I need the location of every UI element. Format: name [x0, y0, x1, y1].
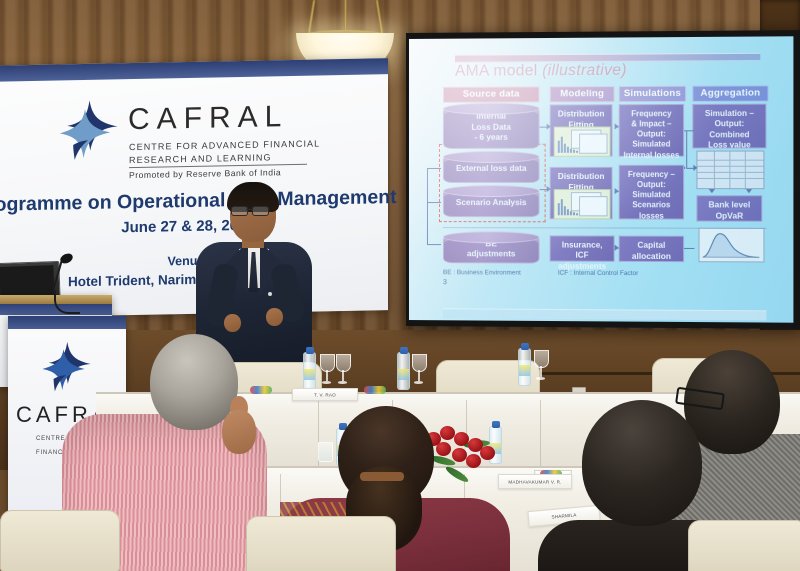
slide-page-number: 3: [443, 279, 447, 286]
column-header-source-data: Source data: [443, 86, 540, 102]
eyeglasses-left-icon: [231, 206, 248, 216]
standee-top-band: [8, 316, 126, 329]
mini-bars-1: [558, 137, 578, 153]
histogram-thumbnail-2: [554, 189, 611, 219]
candy-dish-contents-2: [364, 386, 386, 394]
name-tent-text: T. V. RAO: [293, 392, 357, 397]
banner-brand-name: CAFRAL: [128, 100, 288, 137]
slide-title-italic: (illustrative): [542, 62, 627, 80]
eyeglasses-right-icon: [252, 206, 269, 216]
wine-glass-6: [534, 350, 547, 380]
candy-dish-contents-1: [250, 386, 272, 394]
light-rod-center: [344, 0, 347, 34]
presenter-hand-right: [266, 308, 283, 326]
box-frequency-impact-internal: Frequency & Impact – Output: Simulated I…: [619, 104, 684, 157]
water-bottle-2: [303, 352, 316, 390]
cylinder-scenario-analysis: Scenario Analysis: [443, 189, 540, 217]
arrow-3: [547, 186, 551, 192]
connector-10: [427, 202, 441, 203]
arrow-6: [709, 189, 715, 193]
conference-room-photo: AMA model (illustrative) Source data Mod…: [0, 0, 800, 571]
box-frequency-scenarios: Frequency – Output: Simulated Scenarios …: [619, 165, 684, 220]
section-separator: [443, 227, 767, 229]
cylinder-internal-loss-data: Internal Loss Data - 6 years: [443, 107, 540, 149]
programme-dates: June 27 & 28, 2013: [0, 214, 388, 239]
name-tent-2: T. V. RAO: [292, 388, 358, 401]
box-simulation-combined-loss: Simulation – Output: Combined Loss value: [692, 104, 766, 149]
programme-title: Programme on Operational Risk Management: [0, 186, 374, 217]
attendee-left-hand: [222, 410, 256, 454]
slide-footer-bar: [443, 308, 767, 320]
projection-screen-frame: AMA model (illustrative) Source data Mod…: [406, 30, 800, 329]
connector-13: [684, 248, 694, 249]
connector-6: [684, 167, 685, 169]
column-header-aggregation: Aggregation: [692, 85, 768, 102]
banner-subtitle: CENTRE FOR ADVANCED FINANCIAL RESEARCH A…: [129, 137, 320, 167]
laptop-screen: [0, 265, 54, 298]
cylinder-external-loss-data: External loss data: [443, 155, 540, 183]
box-insurance-icf-adjustments: Insurance, ICF adjustments: [550, 235, 615, 261]
banner-promoted-by: Promoted by Reserve Bank of India: [129, 167, 281, 180]
mini-bars-2: [558, 199, 578, 215]
arrow-8: [615, 245, 619, 251]
slide-title: AMA model (illustrative): [455, 62, 627, 81]
box-bank-level-opvar: Bank level OpVaR: [696, 195, 762, 222]
water-bottle-4: [518, 348, 531, 386]
presenter-hand-left: [224, 314, 241, 332]
cafral-star-logo-icon: [50, 95, 126, 170]
column-header-simulations: Simulations: [619, 86, 686, 102]
chair-front-1: [246, 516, 396, 571]
loss-matrix-thumbnail: [696, 150, 764, 189]
slide-title-main: AMA model: [455, 62, 542, 80]
loss-distribution-curve-thumbnail: [699, 228, 765, 263]
chair-front-2: [0, 510, 120, 571]
chair-front-3: [688, 520, 800, 571]
attendee-r1-head: [582, 400, 702, 526]
table-pleat: [540, 400, 541, 466]
eyeglasses-bridge: [246, 209, 252, 210]
cylinder-be-adjustments: BE adjustments: [443, 235, 540, 263]
arrow-7: [746, 189, 752, 193]
connector-11: [427, 244, 441, 245]
connector-7: [686, 130, 687, 169]
arrow-1: [547, 124, 551, 130]
connector-left-bus: [427, 168, 428, 244]
footnote-icf: ICF : Internal Control Factor: [558, 270, 639, 277]
footnote-be: BE : Business Environment: [443, 269, 521, 276]
microphone-cable: [54, 290, 80, 314]
arrow-4: [615, 188, 619, 194]
presenter-lapel-mic-icon: [268, 292, 272, 296]
wine-glass-4: [336, 354, 349, 384]
attendee-left-head: [150, 334, 238, 430]
wine-glass-3: [320, 354, 333, 384]
wine-glass-5: [412, 354, 425, 384]
attendee-center-hair-tie: [360, 472, 404, 481]
presentation-slide: AMA model (illustrative) Source data Mod…: [409, 36, 793, 322]
projection-screen: AMA model (illustrative) Source data Mod…: [409, 36, 793, 322]
column-header-modeling: Modeling: [550, 86, 615, 102]
box-capital-allocation: Capital allocation: [619, 236, 684, 263]
water-bottle-3: [397, 352, 410, 390]
arrow-5: [693, 165, 697, 171]
arrow-2: [615, 123, 619, 129]
connector-9: [427, 168, 441, 169]
histogram-thumbnail-1: [554, 126, 611, 156]
